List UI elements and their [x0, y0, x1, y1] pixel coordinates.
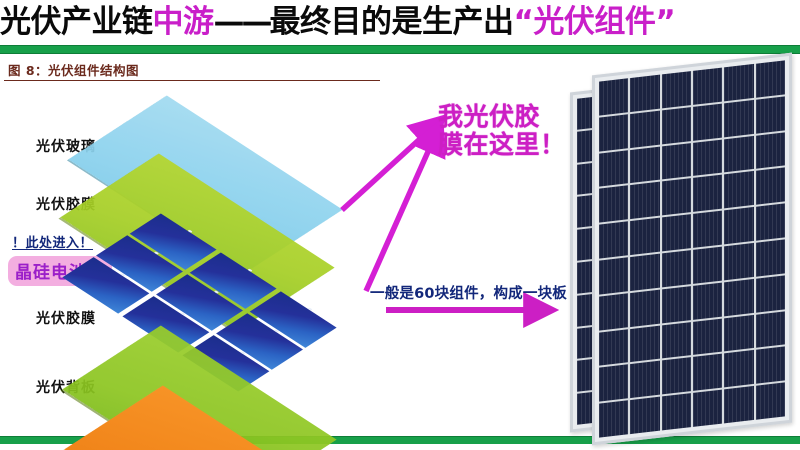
panel-cell	[630, 75, 659, 112]
callout-eva-line1: 我光伏胶	[438, 103, 566, 131]
panel-cell	[756, 239, 785, 276]
panel-cell	[724, 136, 753, 173]
panel-cell	[599, 400, 628, 437]
panel-cell	[662, 107, 691, 144]
panel-cell	[599, 114, 628, 151]
figure-caption: 图 8：光伏组件结构图	[8, 60, 139, 79]
panel-cell	[693, 247, 722, 284]
panel-cell	[693, 68, 722, 105]
panel-cell	[756, 204, 785, 241]
panel-cell	[724, 243, 753, 280]
panel-cell	[693, 282, 722, 319]
title-segment-black-1: 光伏产业链	[0, 0, 153, 44]
panel-cell	[756, 132, 785, 169]
panel-cell	[630, 218, 659, 255]
slide-title: 光伏产业链 中游 —— 最终目的是生产出 “光伏组件”	[0, 0, 800, 44]
panel-cell	[630, 182, 659, 219]
panel-cell	[693, 354, 722, 391]
panel-cell	[630, 289, 659, 326]
panel-cell	[599, 186, 628, 223]
panel-cell	[662, 71, 691, 108]
panel-cell	[756, 168, 785, 205]
exploded-module-diagram	[95, 82, 385, 432]
title-segment-black-2: 最终目的是生产出	[270, 0, 514, 44]
panel-cell	[662, 143, 691, 180]
panel-cell	[724, 64, 753, 101]
panel-cell	[662, 179, 691, 216]
callout-module-count: 一般是60块组件，构成一块板	[370, 282, 567, 303]
panel-cell	[693, 318, 722, 355]
panel-cell	[756, 311, 785, 348]
solar-panel-front	[592, 53, 792, 446]
figure-caption-underline	[4, 80, 380, 81]
panel-cell	[630, 146, 659, 183]
panel-cell	[724, 386, 753, 423]
panel-cell	[724, 350, 753, 387]
panel-cell	[599, 329, 628, 366]
panel-cell	[756, 60, 785, 97]
title-segment-dash: ——	[214, 0, 270, 44]
entry-point-note: ！此处进入！	[12, 232, 93, 251]
panel-cell	[662, 250, 691, 287]
panel-cell	[724, 100, 753, 137]
panel-cell	[724, 315, 753, 352]
panel-cell	[662, 358, 691, 395]
title-segment-highlight-midstream: 中游	[153, 0, 214, 44]
callout-eva-location: 我光伏胶 膜在这里！	[438, 103, 566, 159]
solar-panel-photo	[556, 58, 800, 438]
panel-cell	[724, 279, 753, 316]
panel-cell	[724, 207, 753, 244]
layer-label-eva-bottom: 光伏胶膜	[36, 308, 96, 328]
panel-cell	[693, 139, 722, 176]
panel-cell	[630, 361, 659, 398]
panel-cell	[599, 150, 628, 187]
panel-cell	[693, 211, 722, 248]
panel-cell	[662, 322, 691, 359]
panel-cell	[599, 293, 628, 330]
panel-cell	[662, 393, 691, 430]
title-segment-highlight-module: “光伏组件”	[514, 0, 676, 44]
panel-cell	[630, 110, 659, 147]
callout-eva-line2: 膜在这里！	[438, 131, 566, 159]
panel-cell	[693, 175, 722, 212]
panel-cell	[756, 383, 785, 420]
panel-cell	[630, 254, 659, 291]
panel-cell	[756, 96, 785, 133]
panel-cell	[662, 286, 691, 323]
panel-cell	[599, 78, 628, 115]
diagram-layer-backsheet	[99, 372, 304, 450]
header-divider-top	[0, 45, 800, 54]
panel-cell	[599, 257, 628, 294]
panel-cell	[756, 347, 785, 384]
panel-cell	[724, 171, 753, 208]
panel-cell	[599, 365, 628, 402]
panel-cell	[599, 221, 628, 258]
slide-root: 光伏产业链 中游 —— 最终目的是生产出 “光伏组件” 图 8：光伏组件结构图 …	[0, 0, 800, 450]
panel-cell	[756, 275, 785, 312]
panel-cell	[630, 397, 659, 434]
panel-cell	[693, 103, 722, 140]
panel-cell	[662, 214, 691, 251]
panel-cell	[693, 390, 722, 427]
panel-cell	[630, 325, 659, 362]
